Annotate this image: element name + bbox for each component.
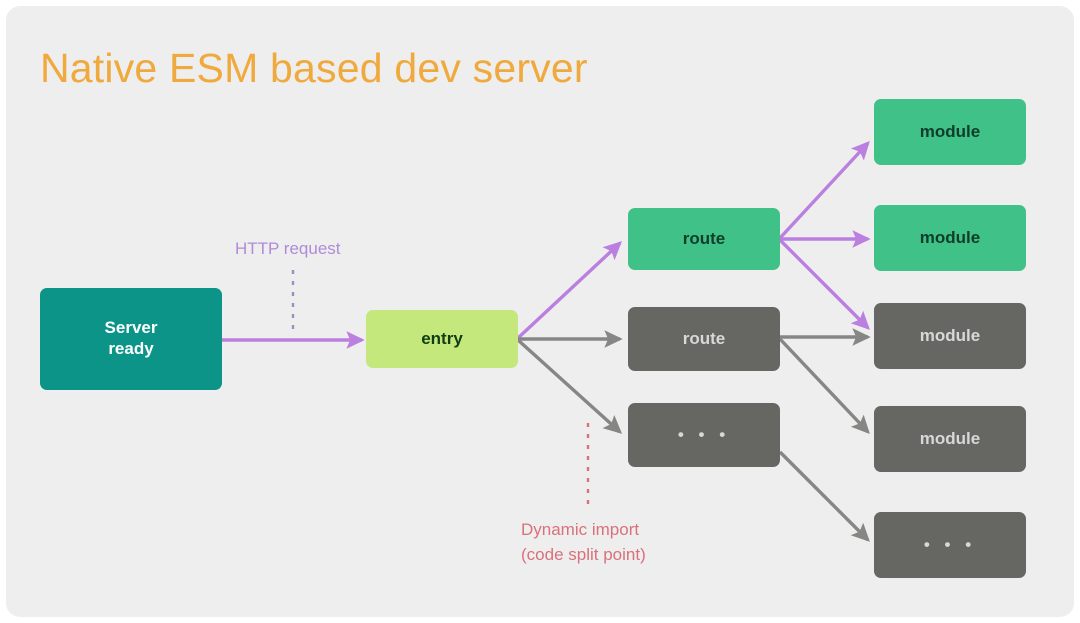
label-dynamic-import-line1: Dynamic import	[521, 519, 639, 541]
node-module-4[interactable]: module	[874, 406, 1026, 472]
node-server-ready[interactable]: Server ready	[40, 288, 222, 390]
page-title: Native ESM based dev server	[40, 45, 588, 92]
node-route-inactive[interactable]: route	[628, 307, 780, 371]
node-module-1[interactable]: module	[874, 99, 1026, 165]
label-dynamic-import-line2: (code split point)	[521, 544, 646, 566]
node-entry[interactable]: entry	[366, 310, 518, 368]
node-route-active[interactable]: route	[628, 208, 780, 270]
node-module-3[interactable]: module	[874, 303, 1026, 369]
node-module-2[interactable]: module	[874, 205, 1026, 271]
label-http-request: HTTP request	[235, 238, 341, 260]
node-module-more[interactable]: • • •	[874, 512, 1026, 578]
node-route-more[interactable]: • • •	[628, 403, 780, 467]
diagram-canvas: Native ESM based dev server Server ready…	[0, 0, 1080, 623]
